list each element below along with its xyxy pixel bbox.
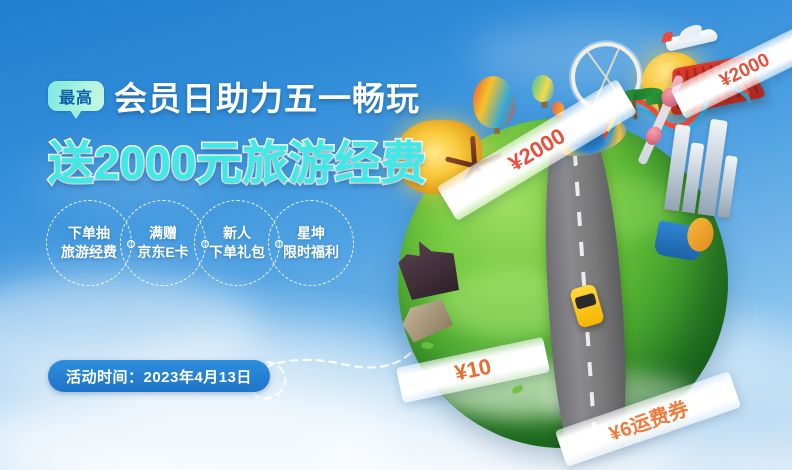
headline-line-2: 送2000元旅游经费 [48, 127, 426, 193]
hot-air-balloon-icon [470, 74, 517, 130]
promo-banner: ¥2000 ¥2000 ¥10 ¥6运费券 最高 会员日助力五一畅玩 送2000… [0, 0, 792, 470]
badge-line-2: 京东E卡 [137, 243, 188, 262]
badge-line-1: 新人 [223, 224, 251, 243]
badge-line-1: 满赠 [149, 224, 177, 243]
badge-line-2: 旅游经费 [61, 243, 117, 262]
headline-block: 最高 会员日助力五一畅玩 送2000元旅游经费 [48, 74, 426, 193]
badge-line-2: 限时福利 [283, 243, 339, 262]
headline-line-1: 会员日助力五一畅玩 [114, 72, 420, 120]
badge-limited-time[interactable]: 星坤 限时福利 [268, 200, 354, 286]
max-amount-tag: 最高 [48, 81, 104, 111]
event-date-pill: 活动时间：2023年4月13日 [48, 360, 270, 392]
hot-air-balloon-icon [531, 74, 556, 103]
benefit-badges: 下单抽 旅游经费 满赠 京东E卡 新人 下单礼包 星坤 限时福利 [46, 200, 354, 286]
badge-line-1: 星坤 [297, 224, 325, 243]
headline-line-1-row: 最高 会员日助力五一畅玩 [48, 74, 426, 118]
badge-line-1: 下单抽 [68, 224, 110, 243]
badge-line-2: 下单礼包 [209, 243, 265, 262]
globe-scene: ¥2000 ¥2000 ¥10 ¥6运费券 [380, 0, 792, 470]
airplane-icon [665, 27, 719, 51]
